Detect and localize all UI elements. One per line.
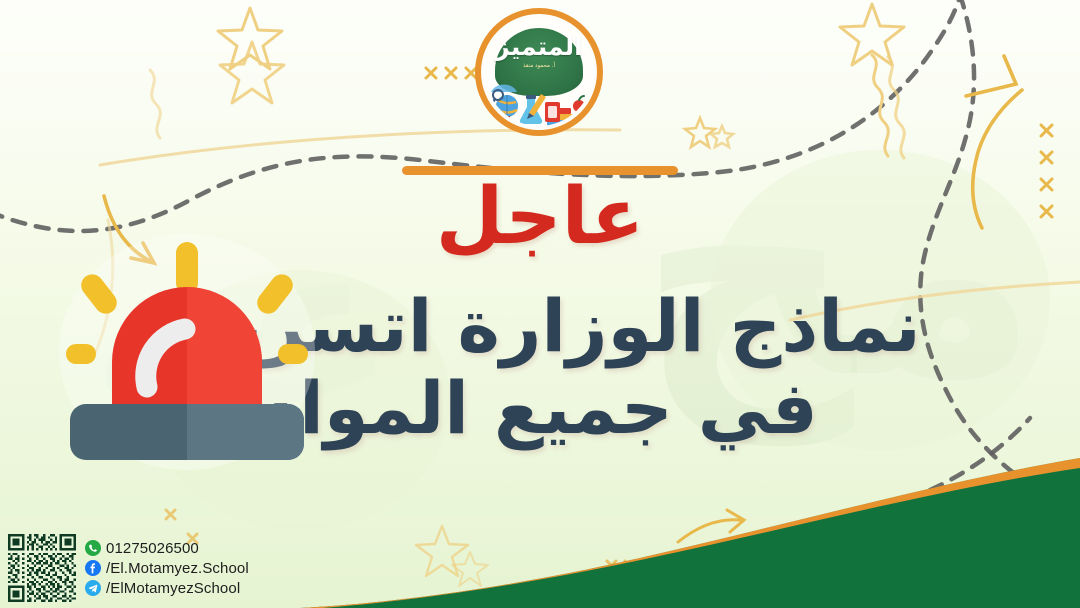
contact-block: 01275026500 /El.Motamyez.School /ElMotam… [8,534,249,602]
logo-subtitle: أ. محمود منقذ [485,63,593,69]
school-logo: المتميز أ. محمود منقذ [475,8,605,156]
logo-ring: المتميز أ. محمود منقذ [475,8,603,136]
poster-canvas: مح عه [0,0,1080,608]
alarm-siren-icon [52,232,322,472]
telegram-icon [85,580,101,596]
whatsapp-icon [85,540,101,556]
facebook-handle: /El.Motamyez.School [106,560,249,577]
contact-row-whatsapp[interactable]: 01275026500 [85,540,249,557]
logo-script-name: المتميز [485,32,593,61]
telegram-handle: /ElMotamyezSchool [106,580,240,597]
logo-school-supplies-icon [485,78,593,126]
logo-inner-disc: المتميز أ. محمود منقذ [485,18,593,126]
contact-row-telegram[interactable]: /ElMotamyezSchool [85,580,249,597]
contact-row-facebook[interactable]: /El.Motamyez.School [85,560,249,577]
whatsapp-number: 01275026500 [106,540,199,557]
contact-list: 01275026500 /El.Motamyez.School /ElMotam… [85,540,249,597]
qr-code[interactable] [8,534,76,602]
facebook-icon [85,560,101,576]
